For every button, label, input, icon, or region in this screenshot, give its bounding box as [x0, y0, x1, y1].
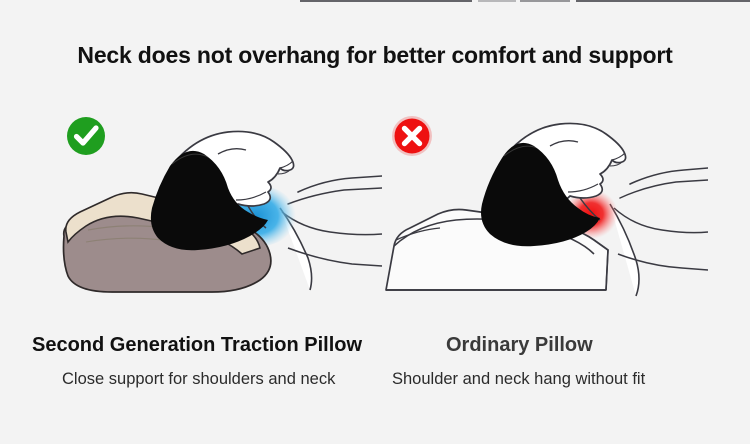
page-title: Neck does not overhang for better comfor…: [0, 42, 750, 69]
panel-traction-pillow: [52, 108, 382, 313]
caption-traction-pillow: Second Generation Traction Pillow: [32, 334, 362, 357]
cross-badge-icon: [390, 114, 434, 158]
caption-ordinary-pillow: Ordinary Pillow: [446, 334, 593, 357]
subcaption-traction-pillow: Close support for shoulders and neck: [62, 370, 335, 389]
comparison-infographic: Neck does not overhang for better comfor…: [0, 0, 750, 444]
top-edge-artifact: [576, 0, 750, 2]
top-edge-artifact: [520, 0, 570, 2]
check-badge-icon: [64, 114, 108, 158]
top-edge-artifact: [478, 0, 516, 2]
panel-ordinary-pillow: [378, 108, 708, 313]
top-edge-artifact: [300, 0, 472, 2]
subcaption-ordinary-pillow: Shoulder and neck hang without fit: [392, 370, 645, 389]
